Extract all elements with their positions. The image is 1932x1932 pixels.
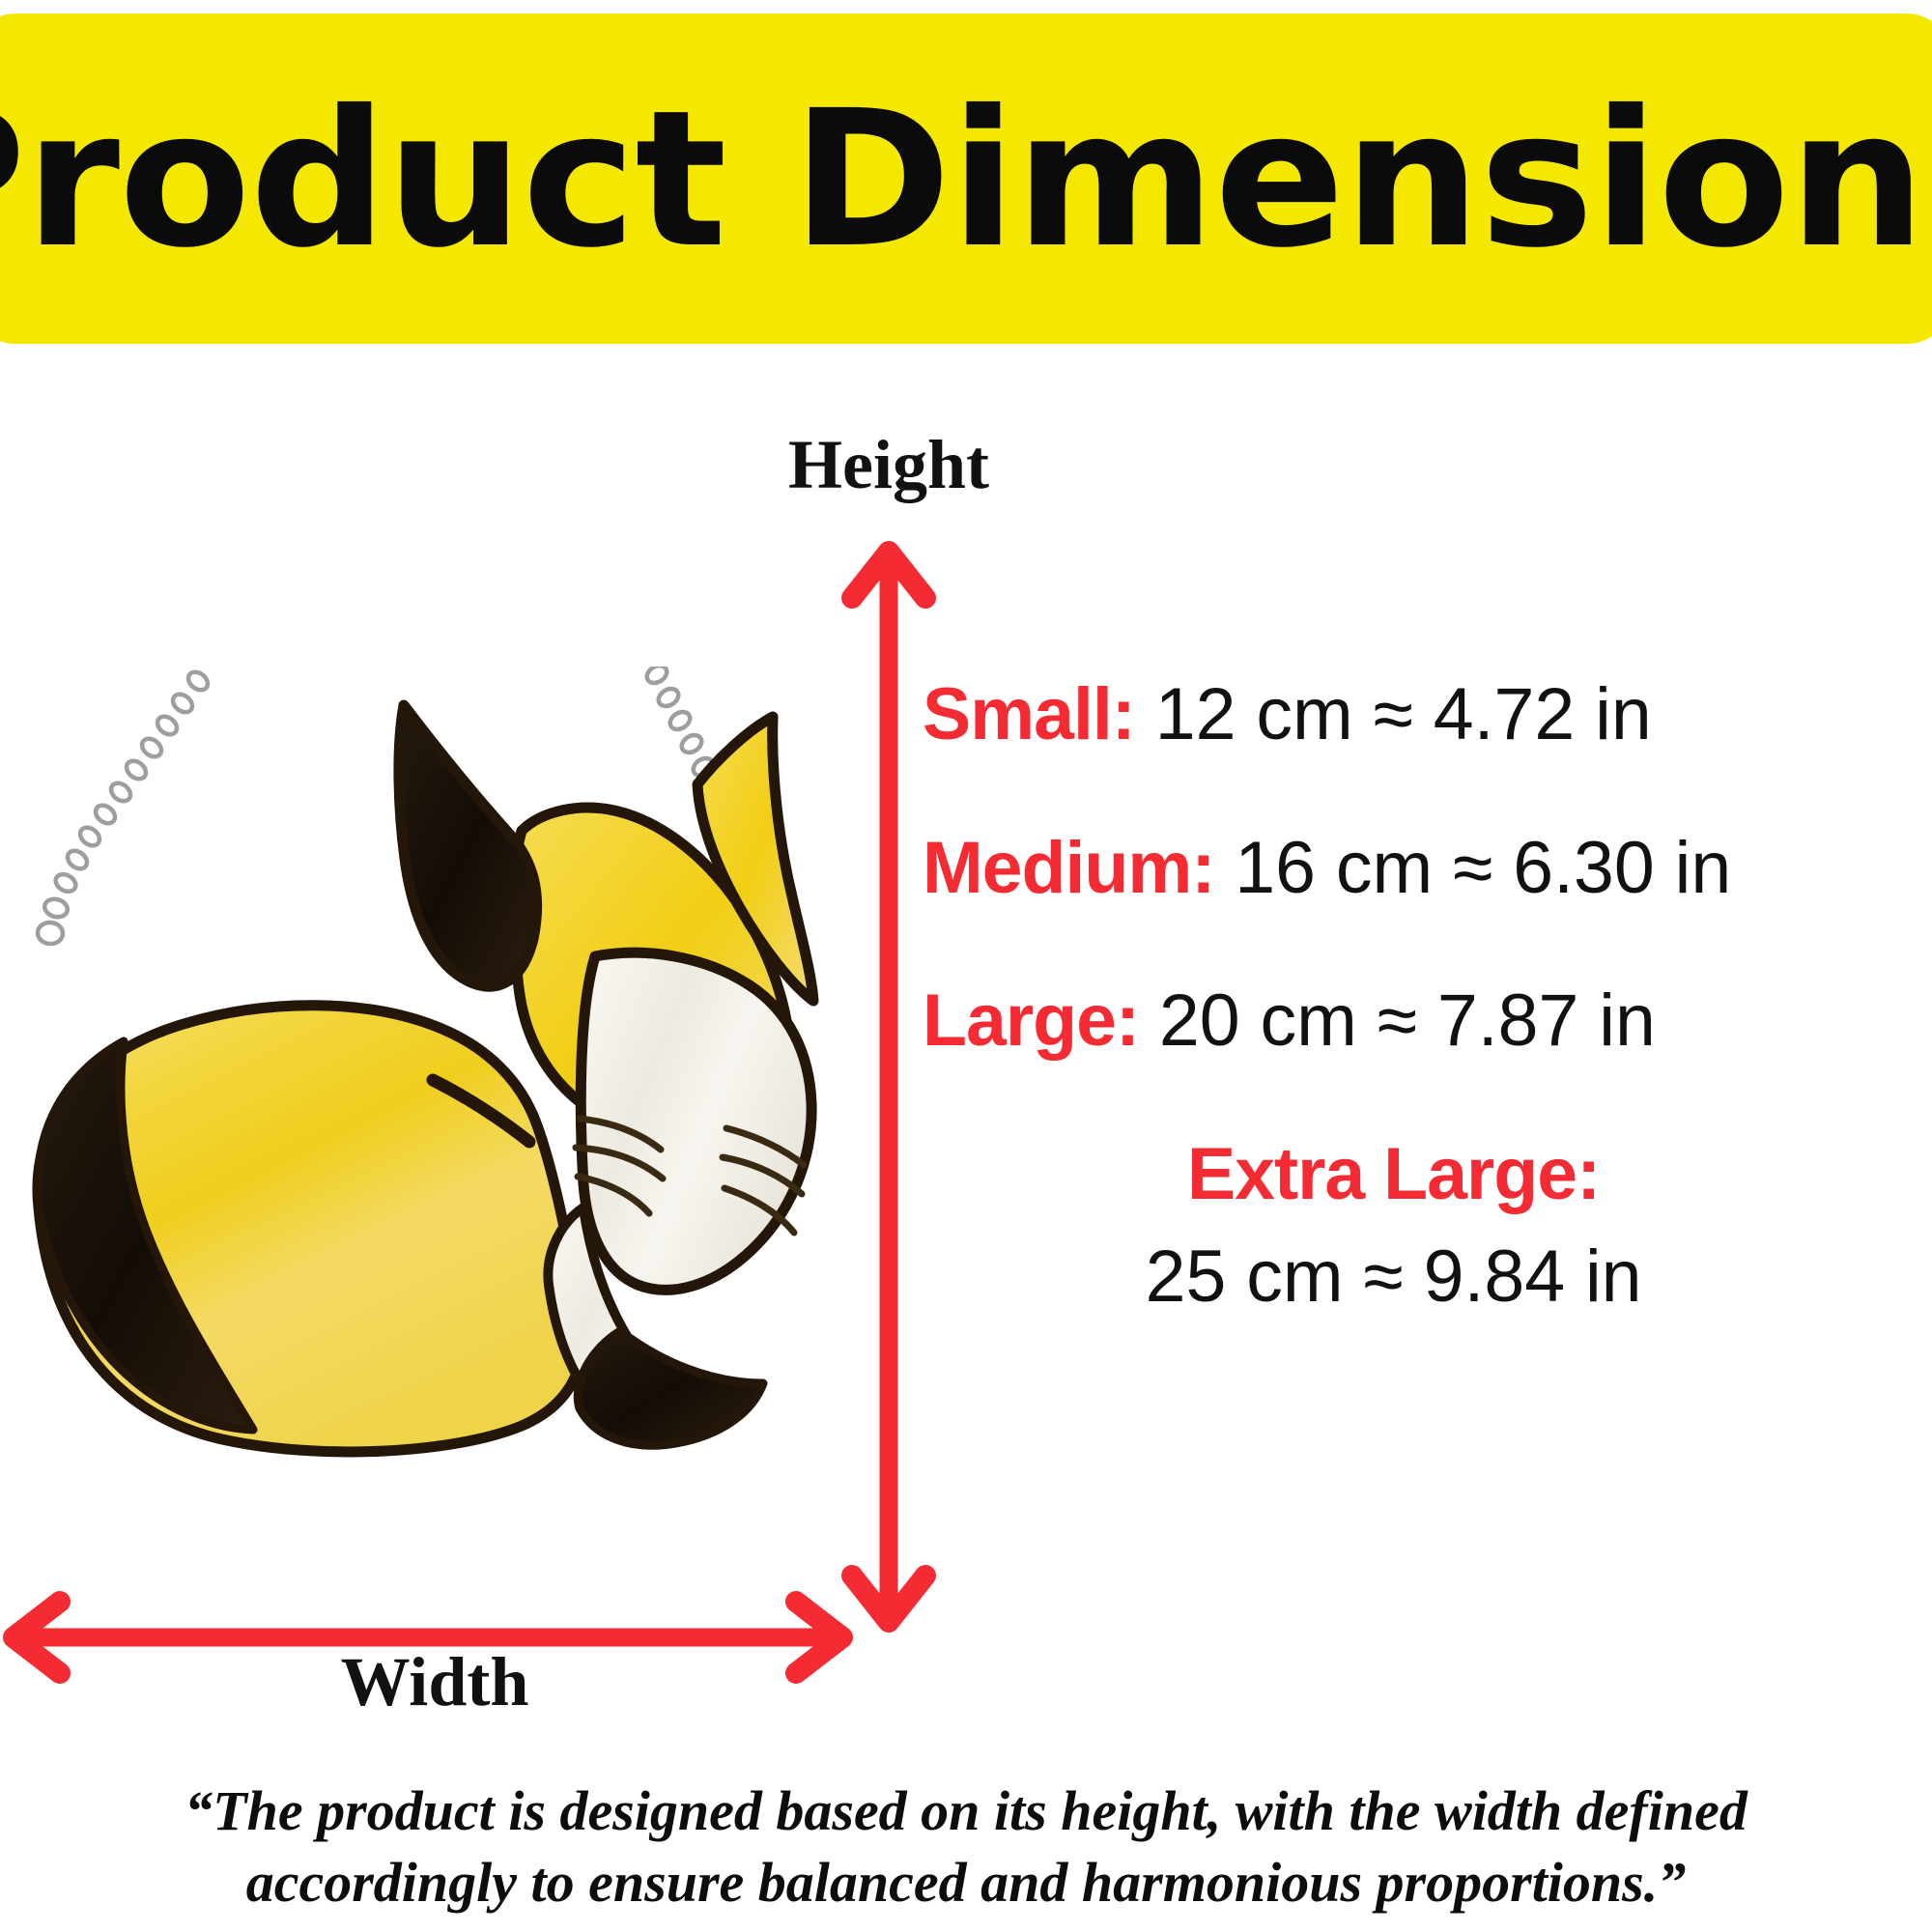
hanging-chain-left — [37, 668, 211, 945]
footer-quote: “The product is designed based on its he… — [10, 1776, 1922, 1918]
dimension-row-small: Small: 12 cm ≈ 4.72 in — [923, 676, 1922, 754]
cat-ear-left-black — [399, 705, 537, 986]
page-title: Product Dimensions — [0, 85, 1932, 273]
dimension-value-extra-large: 25 cm ≈ 9.84 in — [923, 1238, 1864, 1317]
dimension-row-extra-large: Extra Large: 25 cm ≈ 9.84 in — [923, 1136, 1922, 1317]
dimension-value-small: 12 cm ≈ 4.72 in — [1155, 673, 1652, 755]
dimension-list: Small: 12 cm ≈ 4.72 in Medium: 16 cm ≈ 6… — [923, 676, 1932, 1317]
cat-muzzle-white-glass — [581, 952, 811, 1290]
dimension-row-large: Large: 20 cm ≈ 7.87 in — [923, 982, 1922, 1061]
cat-paw-black-patch — [578, 1331, 763, 1445]
height-axis-label: Height — [667, 425, 1111, 505]
dimension-label-medium: Medium: — [923, 827, 1214, 909]
width-axis-label: Width — [213, 1642, 657, 1722]
dimension-label-small: Small: — [923, 673, 1135, 755]
footer-quote-line-1: “The product is designed based on its he… — [10, 1776, 1922, 1847]
footer-quote-line-2: accordingly to ensure balanced and harmo… — [10, 1847, 1922, 1918]
product-image-cat-suncatcher — [0, 667, 850, 1478]
dimension-value-large: 20 cm ≈ 7.87 in — [1159, 980, 1656, 1062]
dimension-label-extra-large: Extra Large: — [923, 1136, 1864, 1214]
header-banner: Product Dimensions — [0, 14, 1932, 344]
dimension-label-large: Large: — [923, 980, 1139, 1062]
dimension-value-medium: 16 cm ≈ 6.30 in — [1235, 827, 1731, 909]
dimension-row-medium: Medium: 16 cm ≈ 6.30 in — [923, 830, 1922, 908]
